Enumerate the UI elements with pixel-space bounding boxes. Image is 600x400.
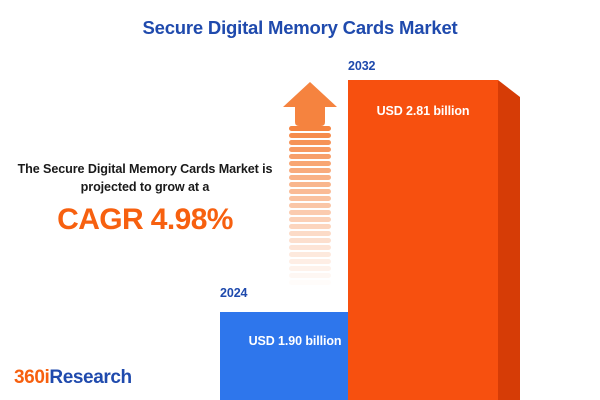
arrow-shaft-segment [289,147,331,152]
bar-2032-side-face [498,80,520,400]
arrow-shaft-segment [289,196,331,201]
arrow-shaft-segment [289,273,331,278]
logo-360i-text: 360i [14,367,49,388]
bar-2032-front-face: USD 2.81 billion [348,80,498,400]
page-title: Secure Digital Memory Cards Market [0,17,600,39]
cagr-caption-text: The Secure Digital Memory Cards Market i… [14,160,276,197]
arrow-shaft-segment [289,238,331,243]
bar-2032-value-label: USD 2.81 billion [348,104,498,118]
arrow-shaft-segment [289,217,331,222]
arrow-shaft-segment [289,259,331,264]
arrow-shaft-segment [289,266,331,271]
arrow-head-icon [281,80,339,126]
arrow-shaft-segment [289,154,331,159]
arrow-shaft-segment [289,287,331,292]
arrow-shaft-segment [289,182,331,187]
arrow-shaft-segment [289,280,331,285]
arrow-shaft-segment [289,252,331,257]
bar-2032-year-label: 2032 [348,59,375,73]
cagr-value: CAGR 4.98% [14,203,276,237]
upward-growth-arrow-icon [281,80,339,300]
bar-2024-year-label: 2024 [220,286,247,300]
arrow-shaft-segment [289,203,331,208]
arrow-shaft-segment [289,133,331,138]
brand-logo: 360iResearch [14,367,132,389]
arrow-shaft-segment [289,294,331,299]
arrow-shaft-segment [289,189,331,194]
arrow-shaft-segment [289,210,331,215]
arrow-shaft-segment [289,126,331,131]
arrow-shaft-segment [289,168,331,173]
arrow-shaft-segment [289,245,331,250]
logo-research-text: Research [49,367,131,388]
arrow-shaft-segment [289,175,331,180]
arrow-shaft-segment [289,140,331,145]
arrow-shaft-segment [289,231,331,236]
arrow-shaft-segment [289,161,331,166]
arrow-shaft-segments [289,126,331,300]
arrow-shaft-segment [289,224,331,229]
cagr-caption-block: The Secure Digital Memory Cards Market i… [14,160,276,237]
market-size-infographic: Secure Digital Memory Cards Market The S… [0,0,600,400]
